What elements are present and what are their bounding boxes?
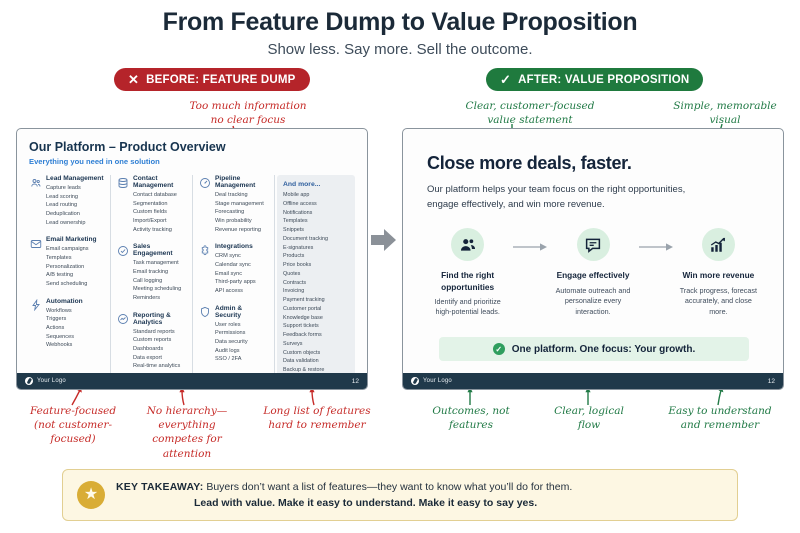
step-heading: Win more revenue [678, 270, 759, 281]
group-heading: Pipeline Management [215, 175, 269, 189]
database-icon [116, 176, 129, 189]
group-item: User roles [215, 321, 269, 330]
group-item: Import/Export [133, 217, 187, 226]
group-item: Third-party apps [215, 278, 269, 287]
logo-mark-icon [25, 377, 33, 385]
group-item: Calendar sync [215, 261, 269, 270]
group-item: Reminders [133, 294, 187, 303]
step-body: Automate outreach and personalize every … [552, 286, 633, 317]
and-more-item: Products [283, 252, 349, 261]
annotation-bottom-left-3: Long list of features hard to remember [258, 404, 376, 432]
close-icon: ✕ [128, 73, 139, 86]
takeaway-line-2: Lead with value. Make it easy to underst… [116, 497, 723, 509]
and-more-item: Payment tracking [283, 296, 349, 305]
slide-after-subtitle: Our platform helps your team focus on th… [427, 183, 692, 212]
step-icon-wrap [577, 228, 610, 261]
takeaway-label: KEY TAKEAWAY: [116, 481, 203, 493]
group-item: Custom reports [133, 336, 187, 345]
and-more-item: Snippets [283, 226, 349, 235]
footer-logo-label: Your Logo [423, 378, 452, 384]
and-more-item: Surveys [283, 340, 349, 349]
group-item: Stage management [215, 200, 269, 209]
slide-canvas: From Feature Dump to Value Proposition S… [0, 0, 800, 533]
badge-before-label: BEFORE: FEATURE DUMP [146, 74, 295, 86]
group-heading: Integrations [215, 243, 269, 250]
group-item: Task management [133, 259, 187, 268]
annotation-bottom-right-2: Clear, logical flow [530, 404, 648, 432]
group-item: Deduplication [46, 210, 105, 219]
transition-arrow-icon [371, 228, 397, 252]
footer-page-number: 12 [352, 378, 359, 385]
value-steps: Find the right opportunities Identify an… [427, 228, 759, 317]
envelope-icon [29, 237, 42, 250]
group-item: Deal tracking [215, 191, 269, 200]
step-icon-wrap [451, 228, 484, 261]
people-icon [29, 176, 42, 189]
group-item: Segmentation [133, 200, 187, 209]
puzzle-icon [198, 244, 211, 257]
takeaway-line-1: KEY TAKEAWAY: Buyers don’t want a list o… [116, 481, 723, 493]
and-more-item: Offline access [283, 200, 349, 209]
feature-column-1: Lead Management Capture leads Lead scori… [29, 175, 111, 390]
slide-after: Close more deals, faster. Our platform h… [402, 128, 784, 390]
group-item: Templates [46, 254, 105, 263]
group-item: Revenue reporting [215, 226, 269, 235]
feature-column-3: Pipeline Management Deal tracking Stage … [193, 175, 275, 390]
star-icon: ★ [77, 481, 105, 509]
group-item: Standard reports [133, 328, 187, 337]
group-item: Dashboards [133, 345, 187, 354]
feature-group: Integrations CRM sync Calendar sync Emai… [198, 243, 269, 295]
slide-before-footer: Your Logo 12 [17, 373, 367, 389]
group-item: Real-time analytics [133, 362, 187, 371]
slide-after-footer: Your Logo 12 [403, 373, 783, 389]
group-item: Email campaigns [46, 245, 105, 254]
step-arrow-icon [634, 228, 678, 317]
annotation-bottom-left-2: No hierarchy—everything competes for att… [128, 404, 246, 461]
group-heading: Sales Engagement [133, 243, 187, 257]
group-item: Email tracking [133, 268, 187, 277]
group-item: Triggers [46, 315, 105, 324]
page-title: From Feature Dump to Value Proposition [0, 8, 800, 37]
value-step: Win more revenue Track progress, forecas… [678, 228, 759, 317]
annotation-bottom-right-3: Easy to understand and remember [655, 404, 785, 432]
badge-before: ✕ BEFORE: FEATURE DUMP [114, 68, 310, 91]
and-more-item: Quotes [283, 270, 349, 279]
feature-column-2: Contact Management Contact database Segm… [111, 175, 193, 390]
group-heading: Contact Management [133, 175, 187, 189]
and-more-item: Support tickets [283, 322, 349, 331]
and-more-item: Document tracking [283, 235, 349, 244]
and-more-panel: And more... Mobile app Offline access No… [277, 175, 355, 390]
group-item: Workflows [46, 307, 105, 316]
group-item: Personalization [46, 263, 105, 272]
group-item: API access [215, 287, 269, 296]
annotation-top-left: Too much information no clear focus [168, 99, 328, 127]
footer-logo-label: Your Logo [37, 378, 66, 384]
group-heading: Lead Management [46, 175, 105, 182]
group-item: Forecasting [215, 208, 269, 217]
group-item: Activity tracking [133, 226, 187, 235]
feature-group: Automation Workflows Triggers Actions Se… [29, 298, 105, 350]
and-more-item: Price books [283, 261, 349, 270]
feature-group: Admin & Security User roles Permissions … [198, 305, 269, 364]
check-circle-icon [116, 244, 129, 257]
annotation-top-right-1: Clear, customer-focused value statement [450, 99, 610, 127]
and-more-item: Custom objects [283, 349, 349, 358]
step-body: Identify and prioritize high-potential l… [427, 297, 508, 318]
and-more-item: Knowledge base [283, 314, 349, 323]
group-item: Data security [215, 338, 269, 347]
group-heading: Reporting & Analytics [133, 312, 187, 326]
and-more-item: Mobile app [283, 191, 349, 200]
feature-group: Pipeline Management Deal tracking Stage … [198, 175, 269, 234]
and-more-item: Data validation [283, 357, 349, 366]
people-icon [459, 236, 477, 254]
and-more-item: Feedback forms [283, 331, 349, 340]
group-item: SSO / 2FA [215, 355, 269, 364]
step-icon-wrap [702, 228, 735, 261]
slide-before: Our Platform – Product Overview Everythi… [16, 128, 368, 390]
step-body: Track progress, forecast accurately, and… [678, 286, 759, 317]
value-banner: ✓ One platform. One focus: Your growth. [439, 337, 749, 361]
group-item: Capture leads [46, 184, 105, 193]
growth-chart-icon [709, 236, 727, 254]
group-item: Webhooks [46, 341, 105, 350]
feature-group: Contact Management Contact database Segm… [116, 175, 187, 234]
shield-icon [198, 306, 211, 319]
group-heading: Admin & Security [215, 305, 269, 319]
badge-after-label: AFTER: VALUE PROPOSITION [518, 74, 689, 86]
annotation-bottom-left-1: Feature-focused (not customer-focused) [14, 404, 132, 447]
feature-group: Lead Management Capture leads Lead scori… [29, 175, 105, 227]
group-item: Email sync [215, 270, 269, 279]
and-more-heading: And more... [283, 181, 349, 188]
takeaway-lines: KEY TAKEAWAY: Buyers don’t want a list o… [116, 481, 723, 509]
group-item: Lead ownership [46, 219, 105, 228]
and-more-item: Templates [283, 217, 349, 226]
group-heading: Email Marketing [46, 236, 105, 243]
group-item: Call logging [133, 277, 187, 286]
bolt-icon [29, 299, 42, 312]
group-item: Send scheduling [46, 280, 105, 289]
footer-logo: Your Logo [411, 377, 452, 385]
group-item: Audit logs [215, 347, 269, 356]
group-item: Contact database [133, 191, 187, 200]
annotation-bottom-right-1: Outcomes, not features [412, 404, 530, 432]
group-item: CRM sync [215, 252, 269, 261]
group-item: A/B testing [46, 271, 105, 280]
annotation-top-right-2: Simple, memorable visual [660, 99, 790, 127]
chart-circle-icon [116, 313, 129, 326]
feature-columns: Lead Management Capture leads Lead scori… [29, 175, 355, 390]
value-banner-text: One platform. One focus: Your growth. [512, 344, 696, 355]
feature-group: Reporting & Analytics Standard reports C… [116, 312, 187, 371]
logo-mark-icon [411, 377, 419, 385]
check-circle-icon: ✓ [493, 343, 505, 355]
group-item: Lead scoring [46, 193, 105, 202]
group-item: Permissions [215, 329, 269, 338]
and-more-item: Invoicing [283, 287, 349, 296]
slide-before-subtitle: Everything you need in one solution [29, 157, 355, 166]
group-item: Meeting scheduling [133, 285, 187, 294]
group-heading: Automation [46, 298, 105, 305]
group-item: Data export [133, 354, 187, 363]
check-icon: ✓ [500, 73, 511, 86]
slide-after-title: Close more deals, faster. [427, 153, 759, 174]
and-more-item: E-signatures [283, 244, 349, 253]
group-item: Custom fields [133, 208, 187, 217]
slide-before-title: Our Platform – Product Overview [29, 140, 355, 154]
footer-logo: Your Logo [25, 377, 66, 385]
gauge-icon [198, 176, 211, 189]
step-arrow-icon [508, 228, 552, 317]
chat-icon [584, 236, 602, 254]
and-more-item: Notifications [283, 209, 349, 218]
group-item: Sequences [46, 333, 105, 342]
and-more-item: Contracts [283, 279, 349, 288]
slide-after-body: Close more deals, faster. Our platform h… [403, 129, 783, 318]
footer-page-number: 12 [768, 378, 775, 385]
feature-group: Sales Engagement Task management Email t… [116, 243, 187, 302]
group-item: Win probability [215, 217, 269, 226]
page-subtitle: Show less. Say more. Sell the outcome. [0, 41, 800, 58]
slide-before-body: Our Platform – Product Overview Everythi… [17, 129, 367, 390]
group-item: Lead routing [46, 201, 105, 210]
badge-after: ✓ AFTER: VALUE PROPOSITION [486, 68, 703, 91]
key-takeaway: ★ KEY TAKEAWAY: Buyers don’t want a list… [62, 469, 738, 521]
feature-group: Email Marketing Email campaigns Template… [29, 236, 105, 288]
takeaway-text-1: Buyers don’t want a list of features—the… [206, 481, 572, 493]
step-heading: Engage effectively [552, 270, 633, 281]
group-item: Actions [46, 324, 105, 333]
step-heading: Find the right opportunities [427, 270, 508, 292]
value-step: Engage effectively Automate outreach and… [552, 228, 633, 317]
value-step: Find the right opportunities Identify an… [427, 228, 508, 317]
and-more-item: Customer portal [283, 305, 349, 314]
